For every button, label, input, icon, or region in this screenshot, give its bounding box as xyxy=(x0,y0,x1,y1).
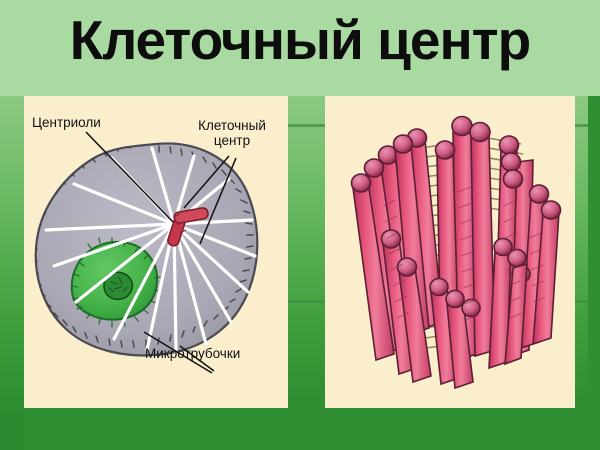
slide-root: Клеточный центр xyxy=(0,0,600,450)
label-cell-center-line2: центр xyxy=(182,133,282,148)
background-bottom-bar xyxy=(0,410,600,450)
page-title: Клеточный центр xyxy=(0,10,600,70)
label-cell-center-line1: Клеточный xyxy=(182,118,282,133)
label-cell-center: Клеточный центр xyxy=(182,118,282,148)
right-illustration-panel xyxy=(325,96,575,408)
left-illustration-panel: Центриоли Клеточный центр Микротрубочки xyxy=(24,96,288,408)
background-left-edge-bar xyxy=(0,410,24,450)
label-centrioles: Центриоли xyxy=(32,115,101,130)
microtubule-triplets xyxy=(352,117,561,389)
cell-body xyxy=(31,140,257,355)
label-microtubules: Микротрубочки xyxy=(145,346,240,361)
centriole-triplets-svg xyxy=(325,96,575,408)
background-right-edge-bar xyxy=(588,96,600,450)
